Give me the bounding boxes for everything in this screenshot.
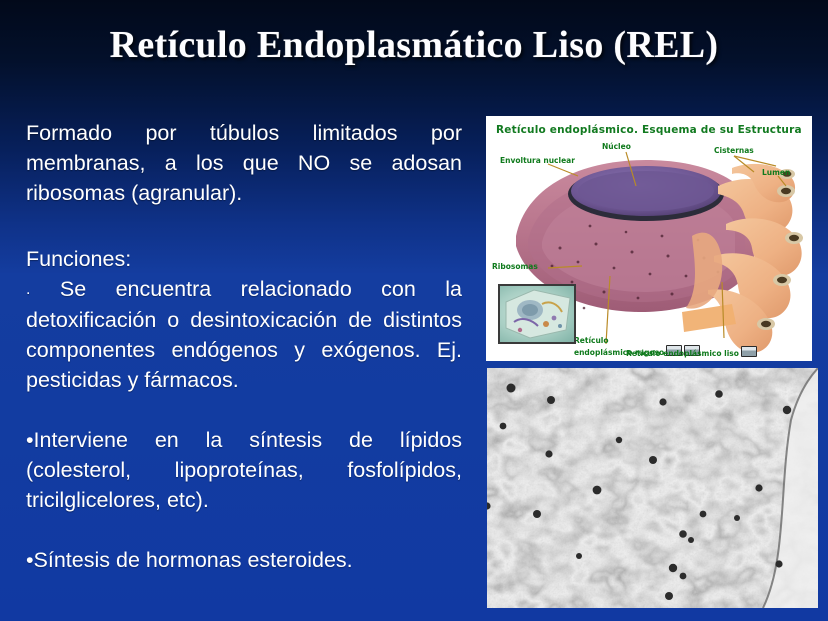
page-title: Retículo Endoplasmático Liso (REL) (0, 22, 828, 68)
function-item-2-text: Interviene en la síntesis de lípidos (co… (26, 428, 462, 512)
cell-inset-thumbnail (498, 284, 576, 344)
diagram-label-rer-line1: Retículo (574, 336, 609, 345)
bullet-dot-icon: • (26, 428, 34, 452)
function-item-3-text: Síntesis de hormonas esteroides. (34, 548, 353, 572)
cell-inset-illustration (500, 286, 574, 342)
diagram-label-cisternas: Cisternas (714, 146, 754, 155)
function-item-2: •Interviene en la síntesis de lípidos (c… (26, 425, 462, 515)
bullet-dot-icon: • (26, 548, 34, 572)
slide-canvas: Retículo Endoplasmático Liso (REL) Forma… (0, 0, 828, 621)
diagram-label-ribosomas: Ribosomas (492, 262, 538, 271)
function-item-1: . Se encuentra relacionado con la detoxi… (26, 274, 462, 395)
diagram-label-nucleo: Núcleo (602, 142, 631, 151)
function-item-3: •Síntesis de hormonas esteroides. (26, 545, 462, 575)
diagram-title: Retículo endoplásmico. Esquema de su Est… (496, 124, 802, 136)
diagram-label-lumen: Lumen (762, 168, 790, 177)
diagram-label-ser: Retículo endoplásmico liso (626, 346, 757, 358)
thumbnail-chip-icon (741, 346, 757, 357)
functions-heading: Funciones: (26, 244, 462, 274)
er-structure-diagram: Retículo endoplásmico. Esquema de su Est… (486, 116, 812, 361)
body-text-column: Formado por túbulos limitados por membra… (26, 118, 462, 575)
diagram-label-envoltura-nuclear: Envoltura nuclear (500, 156, 575, 165)
electron-micrograph (487, 368, 818, 608)
intro-paragraph: Formado por túbulos limitados por membra… (26, 118, 462, 208)
function-item-1-text: Se encuentra relacionado con la detoxifi… (26, 277, 462, 392)
micrograph-illustration (487, 368, 818, 608)
diagram-label-ser-text: Retículo endoplásmico liso (626, 349, 739, 358)
bullet-dot-icon: . (26, 281, 30, 298)
